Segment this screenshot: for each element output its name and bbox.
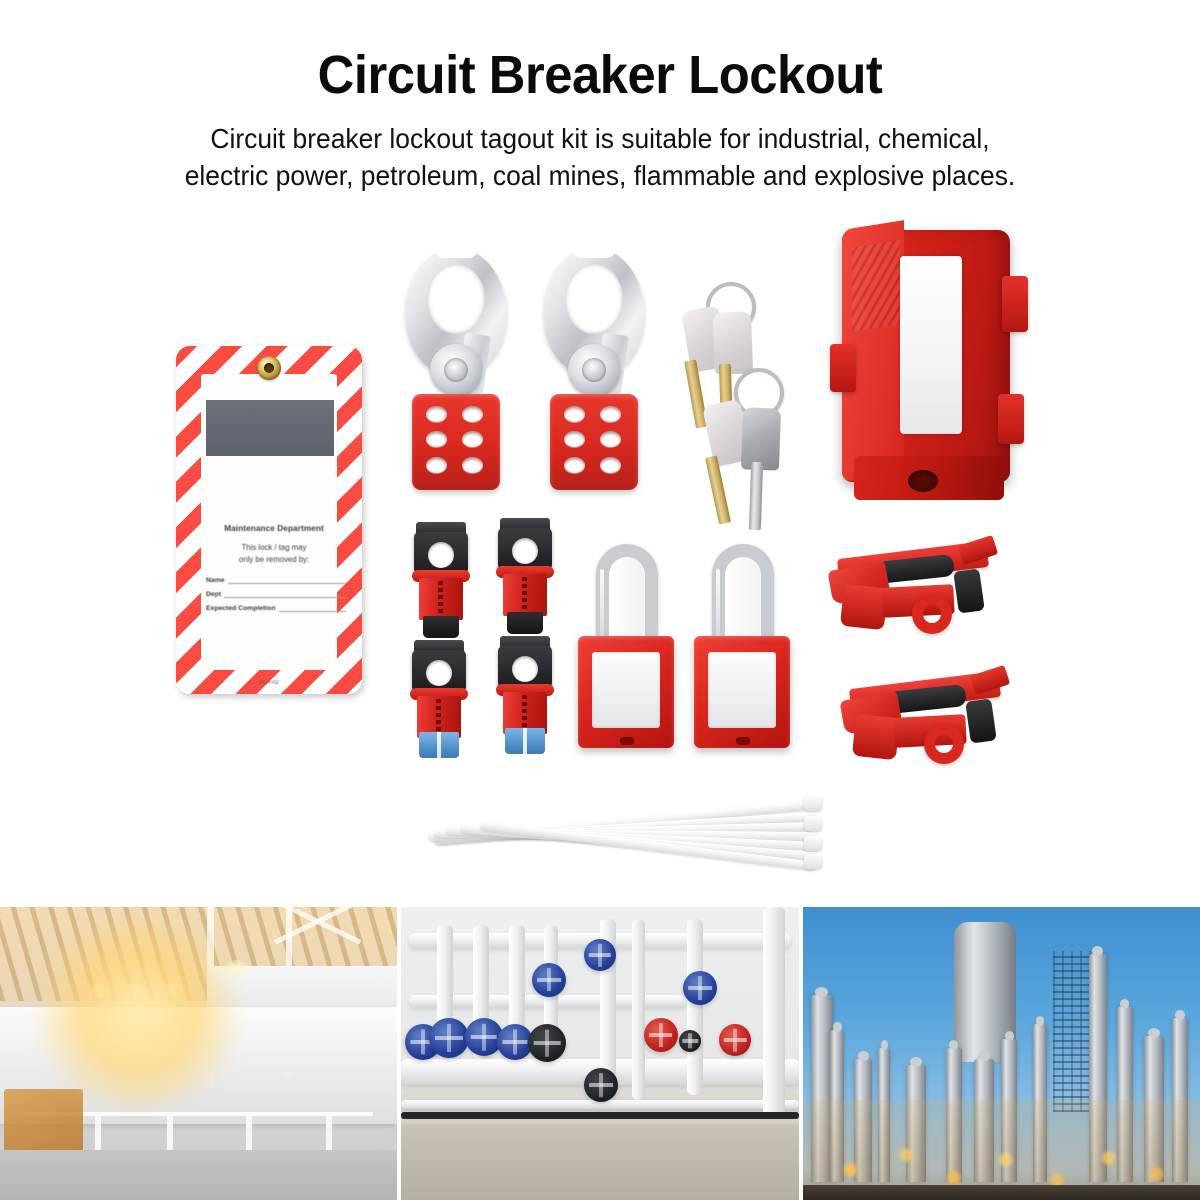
key-blade (749, 462, 763, 530)
steel-hasp-2 (542, 248, 646, 486)
clamp-black-block (953, 568, 985, 613)
mini-tip (505, 728, 545, 754)
lockout-tag: Maintenance Department This lock / tag m… (176, 346, 362, 694)
valve-handwheel (429, 1018, 469, 1058)
clamp-lock-loop (924, 724, 964, 764)
valve-handwheel (644, 1018, 678, 1052)
valve-handwheel (528, 1024, 566, 1062)
pipe-dark (401, 1112, 798, 1119)
padlock-keyway (620, 737, 634, 745)
clamp-black-block (965, 698, 997, 743)
hasp-hole (462, 406, 483, 422)
tag-field-rule (228, 577, 346, 584)
hasp-hole (564, 406, 585, 422)
tag-field-name: Name (206, 577, 346, 584)
pipe-vertical (687, 919, 703, 1095)
photo-pipe-valves (401, 907, 798, 1200)
hasp-hole (426, 431, 447, 447)
lockout-box-ribs (852, 240, 900, 332)
photo-refinery (803, 907, 1200, 1200)
key-blade (705, 455, 731, 524)
mini-tip (419, 732, 459, 758)
valve-handwheel (683, 971, 717, 1005)
safety-padlock-2 (694, 544, 790, 752)
hasp-hole (426, 406, 447, 422)
tag-field-label: Name (206, 577, 225, 584)
factory-floor (0, 1150, 397, 1200)
hasp-hole (600, 431, 621, 447)
lockout-box-lock-hole (908, 470, 938, 492)
tag-field-rule (279, 605, 347, 612)
hasp-hole (600, 457, 621, 473)
lockout-tag-grommet-icon (257, 356, 281, 380)
page-title: Circuit Breaker Lockout (36, 48, 1164, 102)
lockout-box-label (900, 256, 962, 434)
hasp-hole (564, 431, 585, 447)
valve-handwheel (584, 1068, 618, 1102)
lockout-box-tab-bottom-right (998, 394, 1024, 444)
hasp-pivot (568, 344, 620, 396)
cable-tie-head (804, 836, 822, 851)
lockout-tag-text: Maintenance Department This lock / tag m… (202, 524, 346, 619)
cable-tie-head (804, 796, 822, 811)
tag-department-label: Maintenance Department (202, 524, 346, 533)
key-pair-2 (700, 368, 820, 498)
steel-hasp-1 (404, 248, 508, 486)
pipe-vertical (632, 919, 645, 1101)
nylon-cable-ties (420, 778, 820, 884)
padlock-label-plate (592, 652, 660, 728)
tag-field-label: Expected Completion (206, 605, 276, 612)
hasp-hole (600, 406, 621, 422)
mini-lock-hole (428, 542, 454, 568)
sun-glare (24, 919, 254, 1109)
valve-handwheel (497, 1024, 533, 1060)
valve-handwheel (532, 963, 566, 997)
padlock-label-plate (708, 652, 776, 728)
mini-tip (423, 616, 459, 638)
mini-barrel (503, 574, 547, 616)
cable-tie-head (804, 816, 822, 831)
padlock-shackle (712, 544, 774, 648)
tag-field-list: Name Dept Expected Completion (202, 577, 346, 612)
subtitle-line-2: electric power, petroleum, coal mines, f… (120, 157, 1080, 194)
tag-notice-line-1: This lock / tag may (202, 542, 346, 554)
hasp-hole (564, 457, 585, 473)
clamp-lock-loop (912, 594, 952, 634)
product-image-page: Circuit Breaker Lockout Circuit breaker … (0, 0, 1200, 1200)
circuit-breaker-lockout-box (830, 218, 1026, 496)
tag-notice: This lock / tag may only be removed by: (202, 542, 346, 566)
mini-tip (507, 612, 543, 634)
application-photo-strip (0, 907, 1200, 1200)
mini-lock-hole (512, 656, 538, 682)
tag-field-label: Dept (206, 591, 221, 598)
valve-handwheel (719, 1024, 751, 1056)
hasp-jaw (412, 394, 500, 490)
photo-factory-interior (0, 907, 397, 1200)
tag-field-rule (224, 591, 346, 598)
clamp-on-breaker-lockout-1 (828, 536, 1006, 640)
product-stage: Maintenance Department This lock / tag m… (0, 200, 1200, 907)
header: Circuit Breaker Lockout Circuit breaker … (0, 0, 1200, 200)
mini-breaker-lockout-2 (496, 518, 554, 634)
mini-barrel (419, 578, 463, 620)
cable-tie-head (804, 854, 822, 869)
lockout-box-tab-left (830, 344, 856, 392)
padlock-shackle (596, 544, 658, 648)
mini-breaker-lockout-3 (410, 640, 468, 756)
subtitle-line-1: Circuit breaker lockout tagout kit is su… (120, 120, 1080, 157)
lockout-tag-window (206, 400, 334, 456)
mini-lock-hole (426, 660, 452, 686)
hasp-jaw (550, 394, 638, 490)
hasp-hole (462, 457, 483, 473)
hasp-hole (426, 457, 447, 473)
plant-floor (401, 1124, 798, 1200)
lockout-box-tab-top-right (1002, 276, 1028, 332)
tag-code: PLA-02 (176, 680, 362, 686)
refinery-ground (803, 1185, 1200, 1200)
hasp-hole (462, 431, 483, 447)
pipe-vertical (763, 907, 785, 1118)
clamp-on-breaker-lockout-2 (840, 666, 1018, 770)
hasp-opening (434, 246, 478, 258)
mini-lock-hole (512, 538, 538, 564)
mini-breaker-lockout-1 (412, 522, 470, 638)
page-subtitle: Circuit breaker lockout tagout kit is su… (120, 120, 1080, 194)
tag-notice-line-2: only be removed by: (202, 554, 346, 566)
key-head (741, 407, 781, 470)
hasp-opening (572, 246, 616, 258)
tag-field-completion: Expected Completion (206, 605, 346, 612)
mini-breaker-lockout-4 (496, 636, 554, 752)
safety-padlock-1 (578, 544, 674, 752)
tag-field-dept: Dept (206, 591, 346, 598)
hasp-pivot (430, 344, 482, 396)
padlock-keyway (736, 737, 750, 745)
